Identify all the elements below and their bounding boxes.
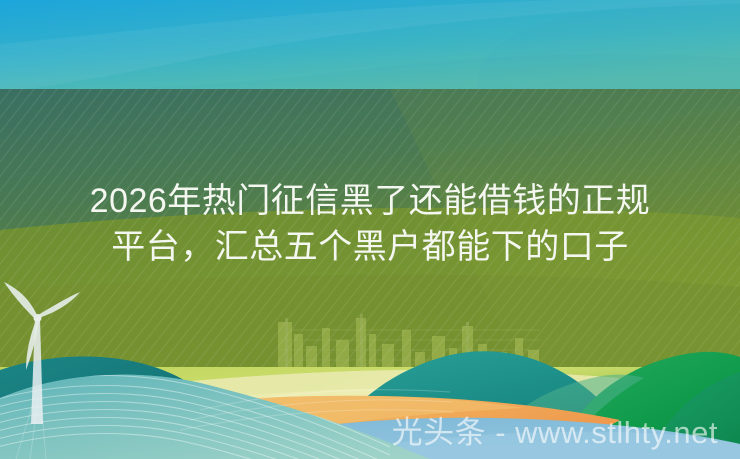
sky-region	[0, 0, 740, 92]
landscape-lower	[0, 351, 740, 459]
poster-canvas: 2026年热门征信黑了还能借钱的正规 平台，汇总五个黑户都能下的口子 光头条 -…	[0, 0, 740, 459]
background-illustration	[0, 0, 740, 459]
field-region	[0, 89, 740, 368]
